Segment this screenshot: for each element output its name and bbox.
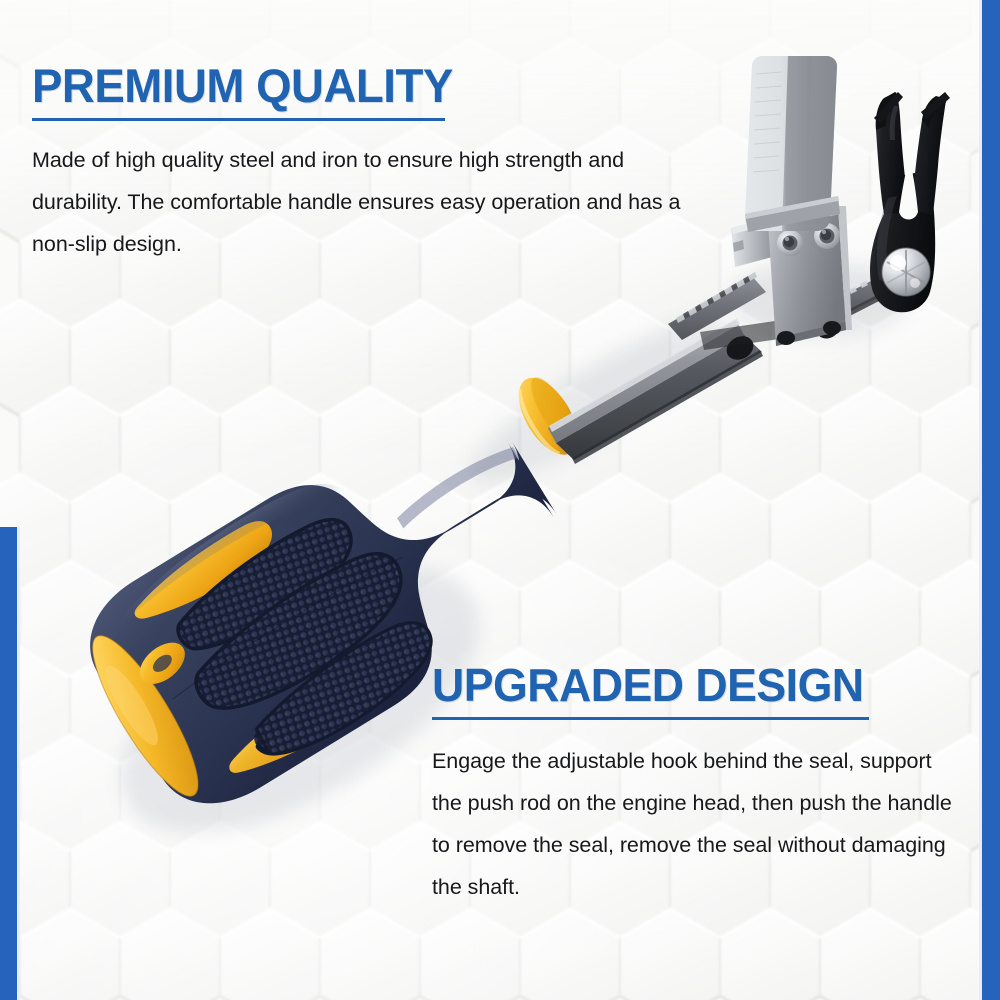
right-blue-border	[982, 0, 1000, 1000]
premium-quality-heading: PREMIUM QUALITY	[32, 62, 692, 109]
left-border-inner-line	[17, 527, 20, 1000]
upgraded-design-body-text: Engage the adjustable hook behind the se…	[432, 720, 960, 908]
premium-quality-section: PREMIUM QUALITY Made of high quality ste…	[32, 62, 712, 265]
upgraded-design-section: UPGRADED DESIGN Engage the adjustable ho…	[432, 662, 962, 908]
right-border-inner-line	[979, 0, 982, 1000]
product-feature-image: PREMIUM QUALITY Made of high quality ste…	[0, 0, 1000, 1000]
left-blue-border	[0, 527, 17, 1000]
upgraded-design-heading: UPGRADED DESIGN	[432, 662, 946, 708]
premium-quality-body-text: Made of high quality steel and iron to e…	[32, 121, 700, 265]
